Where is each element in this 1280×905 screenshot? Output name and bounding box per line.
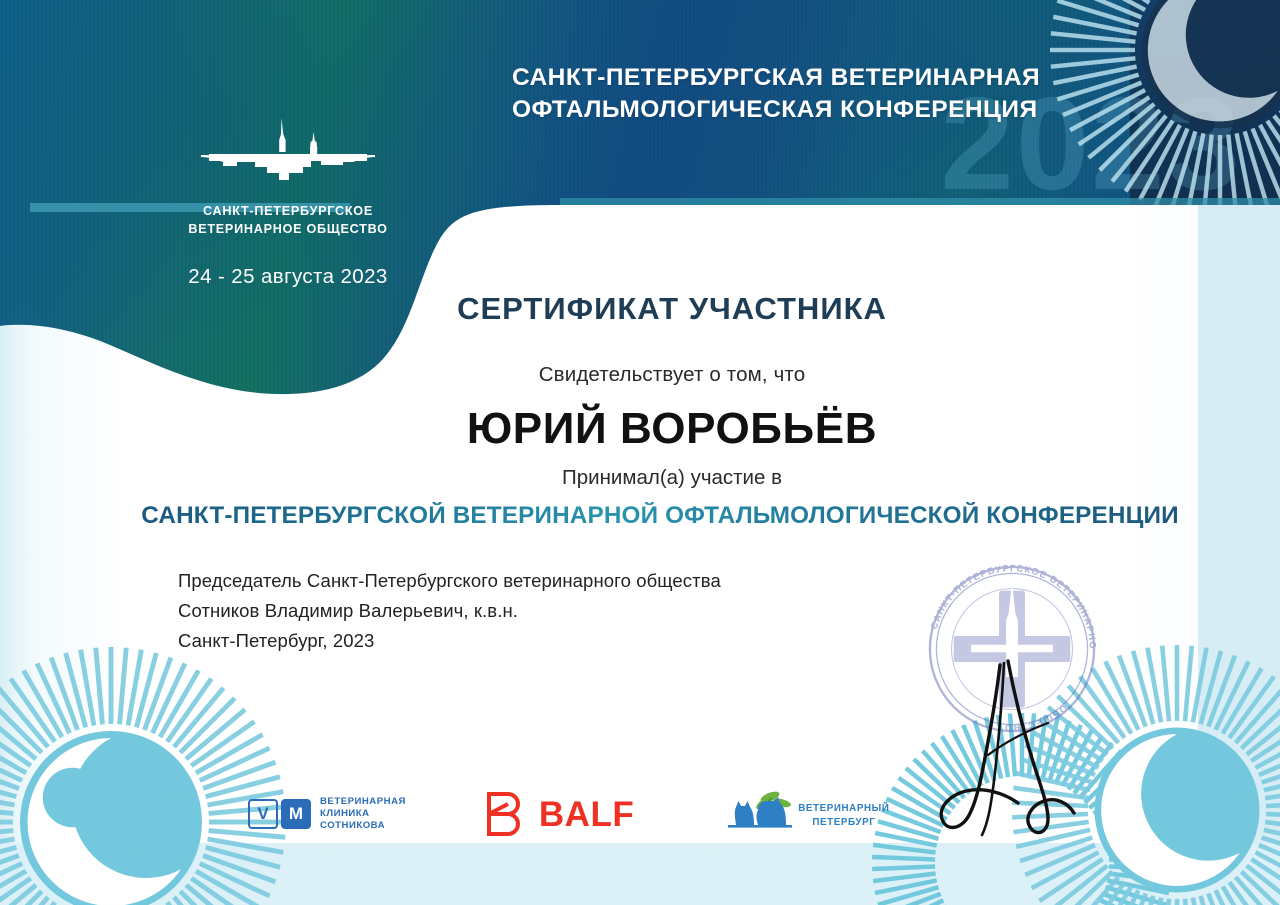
signature-place-date: Санкт-Петербург, 2023 (178, 626, 721, 656)
spb-skyline-icon (193, 118, 383, 190)
sponsor-vet-petersburg: ВЕТЕРИНАРНЫЙ ПЕТЕРБУРГ (712, 791, 889, 837)
balf-wordmark: BALF (539, 797, 634, 832)
vm-text-line-1: ВЕТЕРИНАРНАЯ (320, 796, 406, 808)
header-panel: 2023 САНКТ-ПЕТЕРБУРГСКАЯ ВЕТЕРИНАРНАЯ ОФ… (0, 0, 1280, 420)
vm-mark-icon: V M (248, 799, 311, 829)
vm-text-line-3: СОТНИКОВА (320, 820, 406, 832)
vm-wordmark: ВЕТЕРИНАРНАЯ КЛИНИКА СОТНИКОВА (320, 796, 406, 833)
society-name: САНКТ-ПЕТЕРБУРГСКОЕ ВЕТЕРИНАРНОЕ ОБЩЕСТВ… (178, 202, 398, 239)
certificate-heading: СЕРТИФИКАТ УЧАСТНИКА (0, 291, 1280, 327)
society-logo: САНКТ-ПЕТЕРБУРГСКОЕ ВЕТЕРИНАРНОЕ ОБЩЕСТВ… (178, 118, 398, 289)
society-name-line-1: САНКТ-ПЕТЕРБУРГСКОЕ (178, 202, 398, 220)
signatory-name: Сотников Владимир Валерьевич, к.в.н. (178, 596, 721, 626)
recipient-name: ЮРИЙ ВОРОБЬЁВ (0, 404, 1280, 454)
sponsor-logos: V M ВЕТЕРИНАРНАЯ КЛИНИКА СОТНИКОВА BALF (248, 791, 890, 837)
society-name-line-2: ВЕТЕРИНАРНОЕ ОБЩЕСТВО (178, 220, 398, 238)
conference-name: САНКТ-ПЕТЕРБУРГСКОЙ ВЕТЕРИНАРНОЙ ОФТАЛЬМ… (0, 502, 1280, 530)
signatory-role: Председатель Санкт-Петербургского ветери… (178, 566, 721, 596)
sponsor-balf: BALF (484, 791, 634, 837)
top-right-dark-block (1130, 0, 1280, 205)
conference-title-line-1: САНКТ-ПЕТЕРБУРГСКАЯ ВЕТЕРИНАРНАЯ (512, 62, 1112, 94)
vm-letter-v: V (248, 799, 278, 829)
certificate-page: 2023 САНКТ-ПЕТЕРБУРГСКАЯ ВЕТЕРИНАРНАЯ ОФ… (0, 0, 1280, 905)
vp-text-line-2: ПЕТЕРБУРГ (798, 816, 889, 829)
vm-text-line-2: КЛИНИКА (320, 808, 406, 820)
balf-b-icon (484, 791, 528, 837)
conference-title: САНКТ-ПЕТЕРБУРГСКАЯ ВЕТЕРИНАРНАЯ ОФТАЛЬМ… (512, 62, 1112, 127)
signature-text-block: Председатель Санкт-Петербургского ветери… (178, 566, 721, 656)
conference-title-line-2: ОФТАЛЬМОЛОГИЧЕСКАЯ КОНФЕРЕНЦИЯ (512, 94, 1112, 126)
vp-text-line-1: ВЕТЕРИНАРНЫЙ (798, 802, 889, 815)
sponsor-vet-clinic-sotnikova: V M ВЕТЕРИНАРНАЯ КЛИНИКА СОТНИКОВА (248, 796, 406, 833)
bottom-pale-band (0, 843, 1280, 905)
certificate-subline: Свидетельствует о том, что (0, 363, 1280, 387)
cat-dog-leaves-icon (712, 791, 798, 837)
vp-wordmark: ВЕТЕРИНАРНЫЙ ПЕТЕРБУРГ (798, 802, 889, 828)
header-bottom-rule (560, 198, 1280, 205)
vm-letter-m: M (281, 799, 311, 829)
participation-line: Принимал(а) участие в (0, 466, 1280, 490)
event-dates: 24 - 25 августа 2023 (178, 265, 398, 289)
